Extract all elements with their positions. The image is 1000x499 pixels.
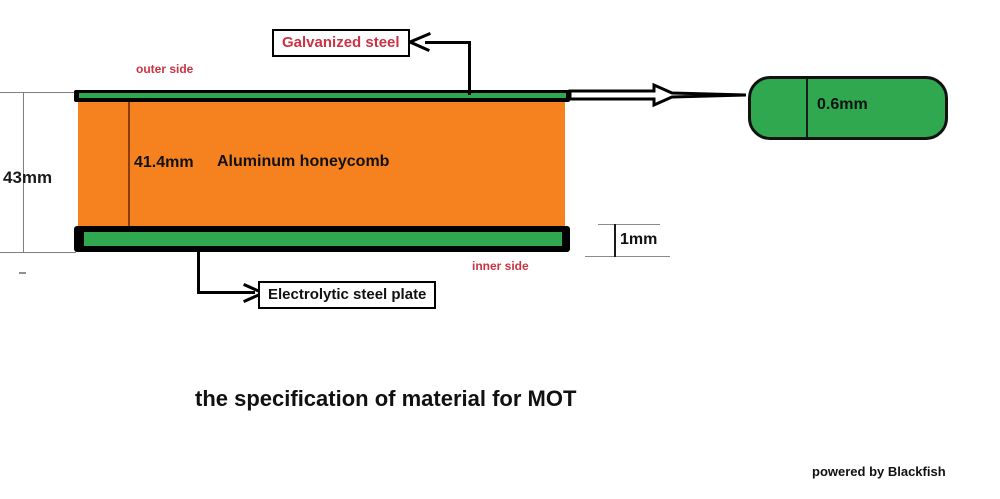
honeycomb-dimension-divider bbox=[128, 102, 130, 227]
inner-side-label: inner side bbox=[472, 259, 529, 273]
electrolytic-steel-plate-fill bbox=[84, 232, 562, 246]
dimension-43-extension-top bbox=[0, 92, 76, 93]
dimension-1mm-extension-bottom bbox=[585, 256, 670, 257]
diagram-canvas: 43mm outer side 41.4mm Aluminum honeycom… bbox=[0, 0, 1000, 499]
callout-divider-line bbox=[806, 79, 808, 137]
dimension-41-4-label: 41.4mm bbox=[134, 154, 194, 172]
zoom-arrow-icon bbox=[568, 82, 746, 108]
dimension-43-stub-mark bbox=[19, 272, 26, 274]
galvanized-steel-layer bbox=[74, 90, 570, 102]
galvanized-arrowhead-icon bbox=[409, 31, 431, 53]
aluminum-honeycomb-label: Aluminum honeycomb bbox=[217, 153, 389, 171]
diagram-title: the specification of material for MOT bbox=[195, 386, 576, 412]
galvanized-leader-horizontal bbox=[425, 41, 471, 44]
galvanized-leader-vertical bbox=[468, 41, 471, 95]
electrolytic-leader-vertical bbox=[197, 252, 200, 293]
dimension-1mm-line bbox=[614, 224, 616, 257]
galvanized-steel-fill bbox=[79, 93, 566, 98]
dimension-43-label: 43mm bbox=[3, 168, 52, 188]
outer-side-label: outer side bbox=[136, 62, 193, 76]
electrolytic-steel-plate-layer bbox=[74, 226, 570, 252]
callout-thickness-label: 0.6mm bbox=[817, 96, 868, 114]
dimension-1mm-label: 1mm bbox=[620, 231, 657, 249]
dimension-1mm-extension-top bbox=[598, 224, 660, 225]
galvanized-steel-callout-box: Galvanized steel bbox=[272, 29, 410, 57]
dimension-43-extension-bottom bbox=[0, 252, 76, 253]
footer-credit: powered by Blackfish bbox=[812, 464, 946, 479]
electrolytic-steel-plate-callout-box: Electrolytic steel plate bbox=[258, 281, 436, 309]
